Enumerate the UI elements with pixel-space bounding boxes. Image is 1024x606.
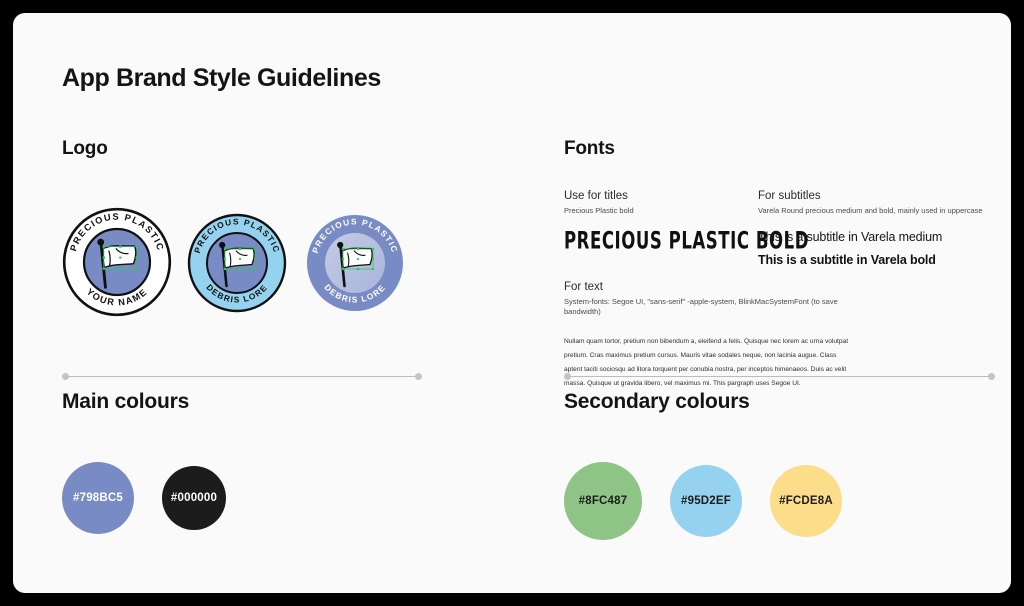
selection-handle[interactable]: [103, 267, 105, 269]
font-subtitles-description: Varela Round precious medium and bold, m…: [758, 206, 998, 217]
swatch-hex-label: #798BC5: [73, 492, 123, 504]
selection-center-handle[interactable]: [239, 258, 241, 260]
flag-cloth: [342, 248, 372, 268]
logo-artwork: PRECIOUS PLASTIC YOUR NAME: [62, 207, 172, 317]
logo-artwork: PRECIOUS PLASTIC DEBRIS LORE: [187, 213, 287, 313]
divider-handle-left[interactable]: [62, 373, 69, 380]
flag-cloth: [103, 246, 136, 268]
divider-main-colours[interactable]: [62, 373, 422, 380]
logo-artwork: PRECIOUS PLASTIC DEBRIS LORE: [305, 213, 405, 313]
logo-badge-2[interactable]: PRECIOUS PLASTIC DEBRIS LORE: [187, 213, 287, 313]
selection-handle[interactable]: [342, 248, 344, 250]
selection-handle[interactable]: [136, 267, 138, 269]
logo-badge-1[interactable]: PRECIOUS PLASTIC YOUR NAME: [62, 207, 172, 317]
secondary_colours-swatch-2[interactable]: #95D2EF: [670, 465, 742, 537]
font-text-description: System-fonts: Segoe UI, "sans-serif" -ap…: [564, 297, 864, 318]
selection-handle[interactable]: [239, 268, 241, 270]
selection-handle[interactable]: [357, 248, 359, 250]
selection-handle[interactable]: [224, 268, 226, 270]
section-heading-fonts: Fonts: [564, 138, 615, 160]
selection-handle[interactable]: [224, 258, 226, 260]
selection-handle[interactable]: [136, 245, 138, 247]
flag-finial-icon: [219, 242, 225, 248]
flag-finial-icon: [97, 239, 104, 246]
font-titles-description: Precious Plastic bold: [564, 206, 754, 217]
font-subtitles-specimen-bold: This is a subtitle in Varela bold: [758, 253, 998, 267]
divider-line: [62, 376, 422, 377]
selection-handle[interactable]: [357, 268, 359, 270]
selection-handle[interactable]: [372, 248, 374, 250]
selection-center-handle[interactable]: [357, 258, 359, 260]
selection-handle[interactable]: [136, 256, 138, 258]
flag-cloth: [224, 248, 254, 268]
divider-secondary-colours[interactable]: [564, 373, 995, 380]
section-heading-logo: Logo: [62, 138, 108, 160]
font-subtitles-specimen-medium: This is a subtitle in Varela medium: [758, 230, 998, 244]
logo-badge-3[interactable]: PRECIOUS PLASTIC DEBRIS LORE: [305, 213, 405, 313]
font-text-paragraph: Nullam quam tortor, pretium non bibendum…: [564, 335, 854, 392]
swatch-hex-label: #95D2EF: [681, 495, 731, 507]
divider-line: [564, 376, 995, 377]
selection-handle[interactable]: [254, 248, 256, 250]
selection-handle[interactable]: [103, 245, 105, 247]
selection-handle[interactable]: [224, 248, 226, 250]
secondary_colours-swatch-3[interactable]: #FCDE8A: [770, 465, 842, 537]
design-canvas: App Brand Style Guidelines Logo PRECIOUS…: [13, 13, 1011, 593]
selection-handle[interactable]: [372, 258, 374, 260]
selection-handle[interactable]: [372, 268, 374, 270]
selection-handle[interactable]: [119, 245, 121, 247]
main_colours-swatch-1[interactable]: #798BC5: [62, 462, 134, 534]
flag-finial-icon: [337, 242, 343, 248]
selection-handle[interactable]: [342, 258, 344, 260]
section-heading-secondary-colours: Secondary colours: [564, 390, 750, 414]
font-titles-label: Use for titles: [564, 189, 754, 205]
selection-center-handle[interactable]: [119, 256, 121, 258]
swatch-hex-label: #8FC487: [579, 495, 628, 507]
selection-handle[interactable]: [342, 268, 344, 270]
secondary_colours-swatch-1[interactable]: #8FC487: [564, 462, 642, 540]
section-heading-main-colours: Main colours: [62, 390, 189, 414]
divider-handle-left[interactable]: [564, 373, 571, 380]
page-title: App Brand Style Guidelines: [62, 64, 381, 93]
font-spec-subtitles: For subtitles Varela Round precious medi…: [758, 189, 998, 267]
divider-handle-right[interactable]: [415, 373, 422, 380]
selection-handle[interactable]: [119, 267, 121, 269]
selection-handle[interactable]: [239, 248, 241, 250]
font-text-label: For text: [564, 280, 864, 296]
font-spec-titles: Use for titles Precious Plastic bold PRE…: [564, 189, 754, 252]
swatch-hex-label: #000000: [171, 492, 217, 504]
selection-handle[interactable]: [103, 256, 105, 258]
font-subtitles-label: For subtitles: [758, 189, 998, 205]
selection-handle[interactable]: [254, 258, 256, 260]
selection-handle[interactable]: [254, 268, 256, 270]
main_colours-swatch-2[interactable]: #000000: [162, 466, 226, 530]
swatch-hex-label: #FCDE8A: [779, 495, 833, 507]
font-titles-specimen: PRECIOUS PLASTIC BOLD: [564, 226, 739, 254]
divider-handle-right[interactable]: [988, 373, 995, 380]
